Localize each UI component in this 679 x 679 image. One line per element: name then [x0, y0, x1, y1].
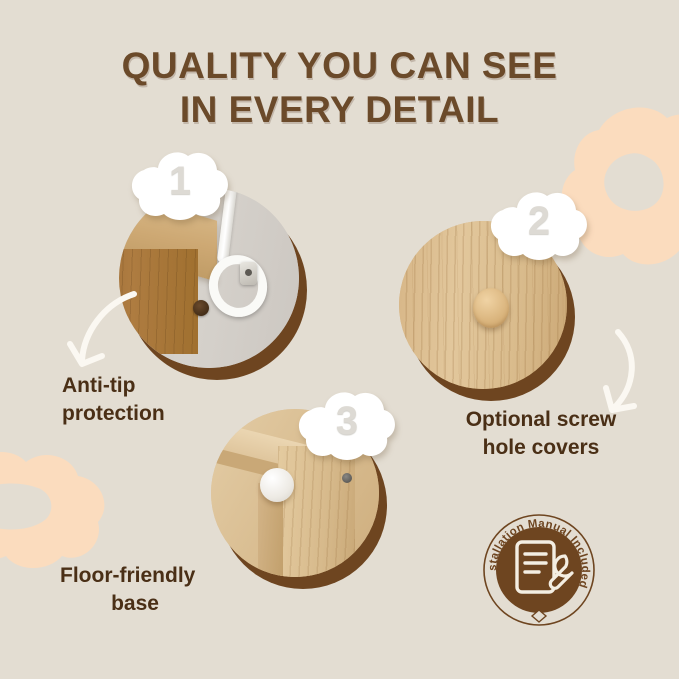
screw-hole-cover-cap — [473, 288, 509, 328]
caption-3-line-1: Floor-friendly — [60, 562, 260, 590]
feature-number-1: 1 — [128, 144, 232, 222]
screw-point — [193, 300, 209, 316]
caption-1-line-1: Anti-tip — [62, 372, 252, 400]
headline-line-2: IN EVERY DETAIL — [0, 88, 679, 132]
feature-number-badge-3: 3 — [295, 384, 399, 462]
wood-grain — [278, 446, 355, 577]
furniture-leg — [278, 446, 355, 577]
page-headline: QUALITY YOU CAN SEE IN EVERY DETAIL — [0, 44, 679, 133]
screw-point — [342, 473, 352, 483]
arrow-to-caption-1 — [58, 288, 168, 380]
headline-line-1: QUALITY YOU CAN SEE — [0, 44, 679, 88]
feature-number-2: 2 — [487, 184, 591, 262]
feature-number-3: 3 — [295, 384, 399, 462]
installation-manual-badge: Installation Manual Included — [481, 512, 597, 628]
floor-protector-pad — [260, 468, 294, 502]
caption-2-line-1: Optional screw — [441, 406, 641, 434]
wall-anchor — [240, 262, 257, 285]
decorative-cloud-bottom-left — [0, 444, 120, 572]
feature-number-badge-2: 2 — [487, 184, 591, 262]
infographic-canvas: QUALITY YOU CAN SEE IN EVERY DETAIL 1 An… — [0, 0, 679, 679]
caption-3-line-2: base — [60, 590, 210, 618]
feature-caption-3: Floor-friendly base — [60, 562, 260, 619]
feature-caption-2: Optional screw hole covers — [441, 406, 641, 463]
caption-2-line-2: hole covers — [441, 434, 641, 462]
feature-number-badge-1: 1 — [128, 144, 232, 222]
